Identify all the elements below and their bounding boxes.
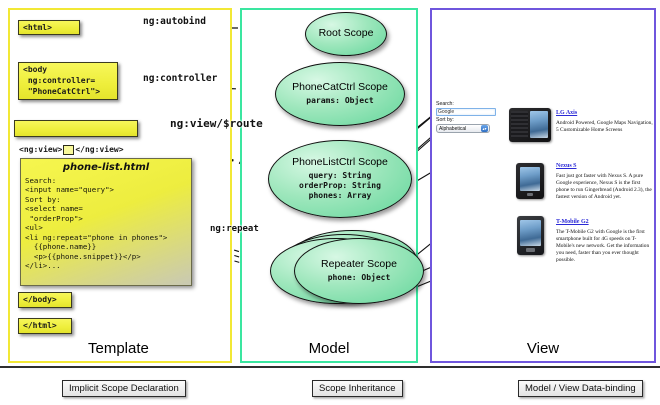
legend-item-data-binding: Model / View Data-binding xyxy=(518,380,643,397)
phone-name-link[interactable]: T-Mobile G2 xyxy=(556,219,654,226)
note-title: phone-list.html xyxy=(21,159,191,175)
diagram-canvas: Template <html> <body ng:controller= "Ph… xyxy=(0,0,660,405)
list-item: T-Mobile G2 The T-Mobile G2 with Google … xyxy=(556,219,654,264)
scope-repeater-props: phone: Object xyxy=(328,273,391,283)
phone-name-link[interactable]: Nexus S xyxy=(556,163,654,170)
phone-thumbnail-nexus-s xyxy=(516,163,544,199)
home-button-icon xyxy=(526,248,535,252)
list-item: LG Axis Android Powered, Google Maps Nav… xyxy=(556,110,654,134)
edge-label-route: ng:view/$route xyxy=(170,117,263,130)
note-code: Search: <input name="query"> Sort by: <s… xyxy=(21,175,191,271)
phone-screen xyxy=(520,220,541,246)
phone-snippet: The T-Mobile G2 with Google is the first… xyxy=(556,229,654,264)
scope-phonecatctrl-props: params: Object xyxy=(306,96,373,106)
template-note-phone-list: phone-list.html Search: <input name="que… xyxy=(20,158,192,286)
edge-label-controller: ng:controller xyxy=(143,73,217,84)
scope-repeater-name: Repeater Scope xyxy=(321,259,397,271)
view-slot-icon xyxy=(63,145,74,155)
scope-root: Root Scope xyxy=(305,12,387,56)
scope-root-name: Root Scope xyxy=(319,28,374,40)
tag-ng-view-open: <ng:view> xyxy=(19,145,62,156)
phone-snippet: Android Powered, Google Maps Navigation,… xyxy=(556,120,654,134)
tag-ng-view: <ng:view> </ng:view> xyxy=(14,120,138,137)
home-button-icon xyxy=(527,193,533,196)
sort-select[interactable]: Alphabetical ▴▾ xyxy=(436,124,490,133)
scope-phonelistctrl-name: PhoneListCtrl Scope xyxy=(292,157,388,169)
legend-item-implicit-scope-declaration: Implicit Scope Declaration xyxy=(62,380,186,397)
phone-name-link[interactable]: LG Axis xyxy=(556,110,654,117)
legend-divider xyxy=(0,366,660,368)
view-search-form: Search: Google Sort by: Alphabetical ▴▾ xyxy=(436,101,500,133)
phone-screen xyxy=(530,111,548,138)
scope-phonecatctrl: PhoneCatCtrl Scope params: Object xyxy=(275,62,405,126)
edge-label-repeat: ng:repeat xyxy=(210,224,259,234)
keyboard-icon xyxy=(511,111,528,138)
edge-label-autobind: ng:autobind xyxy=(143,16,206,27)
tag-html-open: <html> xyxy=(18,20,80,35)
phone-screen xyxy=(520,167,540,191)
phone-thumbnail-lg-axis xyxy=(509,108,551,142)
tag-ng-view-close: </ng:view> xyxy=(75,145,123,156)
panel-view-label: View xyxy=(432,340,654,357)
list-item: Nexus S Fast just got faster with Nexus … xyxy=(556,163,654,201)
scope-phonelistctrl: PhoneListCtrl Scope query: String orderP… xyxy=(268,140,412,218)
tag-body-open: <body ng:controller= "PhoneCatCtrl"> xyxy=(18,62,118,100)
scope-phonecatctrl-name: PhoneCatCtrl Scope xyxy=(292,82,388,94)
scope-phonelistctrl-props: query: String orderProp: String phones: … xyxy=(299,171,381,201)
legend-item-scope-inheritance: Scope Inheritance xyxy=(312,380,403,397)
sort-select-value: Alphabetical xyxy=(439,126,466,132)
phone-snippet: Fast just got faster with Nexus S. A pur… xyxy=(556,173,654,201)
search-label: Search: xyxy=(436,101,500,108)
scope-repeater: Repeater Scope phone: Object xyxy=(294,238,424,304)
tag-html-close: </html> xyxy=(18,318,72,334)
sort-label: Sort by: xyxy=(436,117,500,124)
chevron-updown-icon: ▴▾ xyxy=(481,125,488,132)
panel-model-label: Model xyxy=(242,340,416,357)
phone-thumbnail-t-mobile-g2 xyxy=(517,216,544,255)
search-input[interactable]: Google xyxy=(436,108,496,116)
tag-body-close: </body> xyxy=(18,292,72,308)
